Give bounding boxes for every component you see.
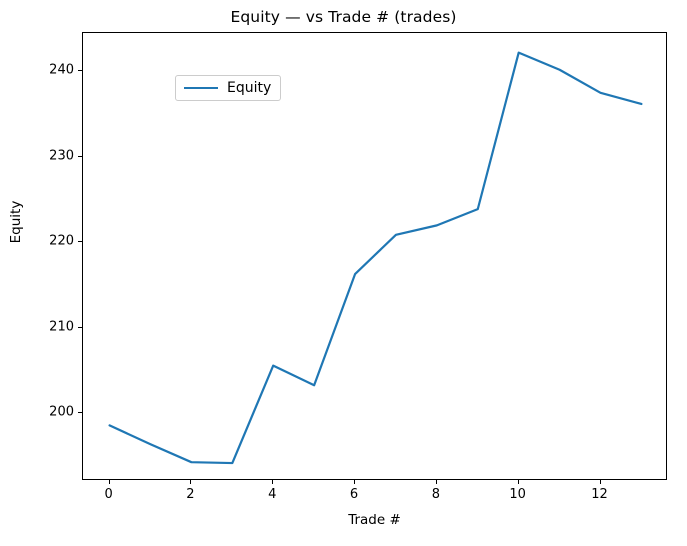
y-axis-label: Equity [8,162,24,282]
plot-area: Equity [82,32,667,480]
y-tick-label: 200 [0,405,74,420]
chart-title: Equity — vs Trade # (trades) [0,8,687,26]
y-tick-label: 210 [0,319,74,334]
y-tick-label: 220 [0,234,74,249]
x-tick-label: 8 [416,487,456,502]
chart-figure: Equity — vs Trade # (trades) Equity Trad… [0,0,687,546]
y-tick-label: 230 [0,148,74,163]
x-tick-label: 4 [252,487,292,502]
x-tick-label: 6 [334,487,374,502]
x-tick-label: 0 [89,487,129,502]
equity-line-plot [83,33,668,481]
legend-label-equity: Equity [227,81,271,95]
y-tick-label: 240 [0,63,74,78]
x-tick-label: 12 [580,487,620,502]
series-line-equity [110,53,642,463]
x-tick-label: 10 [498,487,538,502]
x-axis-label: Trade # [82,512,667,528]
legend-line-swatch-equity [184,87,218,89]
chart-legend[interactable]: Equity [175,75,281,101]
x-tick-label: 2 [170,487,210,502]
